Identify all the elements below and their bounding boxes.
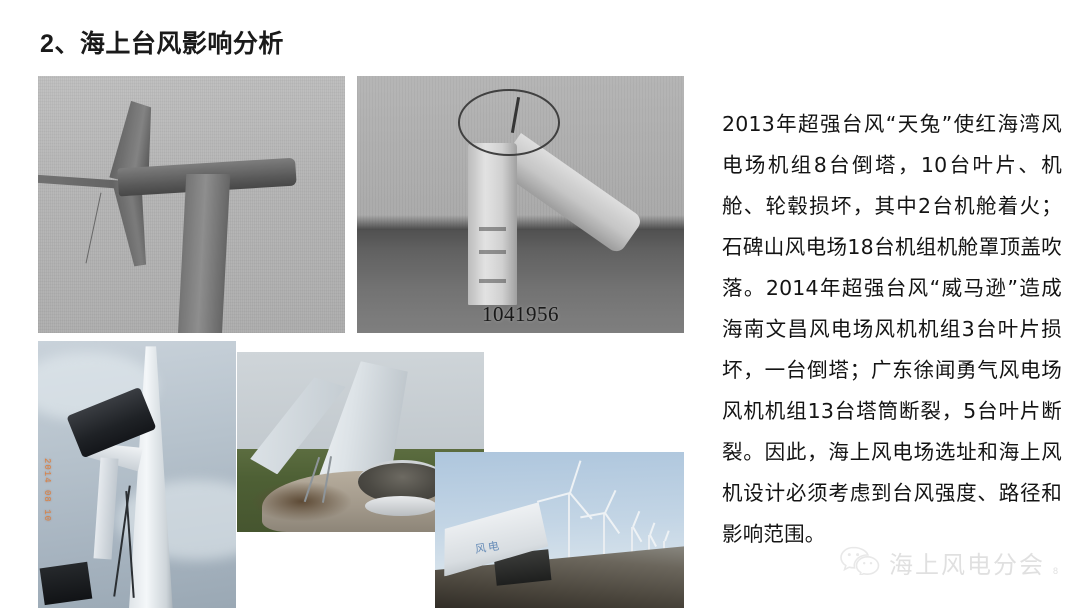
slide-canvas: 2、海上台风影响分析 1041956 (0, 0, 1080, 608)
photo-caption-number: 1041956 (482, 302, 559, 327)
tower-band-mid (479, 250, 506, 254)
turbine-pole (568, 493, 570, 567)
body-paragraph: 2013年超强台风“天兔”使红海湾风电场机组8台倒塔，10台叶片、机舱、轮毂损坏… (722, 104, 1062, 555)
camera-date-stamp: 2014 08 10 (42, 458, 52, 522)
tower-band-low (479, 279, 506, 283)
photo-toppled-tower-scene (357, 76, 684, 333)
watermark-superscript: 8 (1053, 566, 1058, 576)
debris (40, 562, 92, 606)
photo-bent-tower: 2014 08 10 (38, 341, 236, 608)
foundation-base-ring (365, 496, 437, 516)
tower-stump (468, 143, 517, 305)
tower-door-band (479, 227, 506, 231)
photo-wind-farm-fallen-scene: 风电 (435, 452, 684, 608)
photo-wind-farm-fallen: 风电 (435, 452, 684, 608)
photo-toppled-tower: 1041956 (357, 76, 684, 333)
annotation-circle-icon (458, 89, 559, 156)
mud-patch (252, 482, 351, 522)
page-title: 2、海上台风影响分析 (40, 24, 284, 60)
photo-broken-blade-scene (38, 76, 345, 333)
tower-mast (178, 174, 231, 333)
photo-broken-blade (38, 76, 345, 333)
photo-bent-tower-scene (38, 341, 236, 608)
